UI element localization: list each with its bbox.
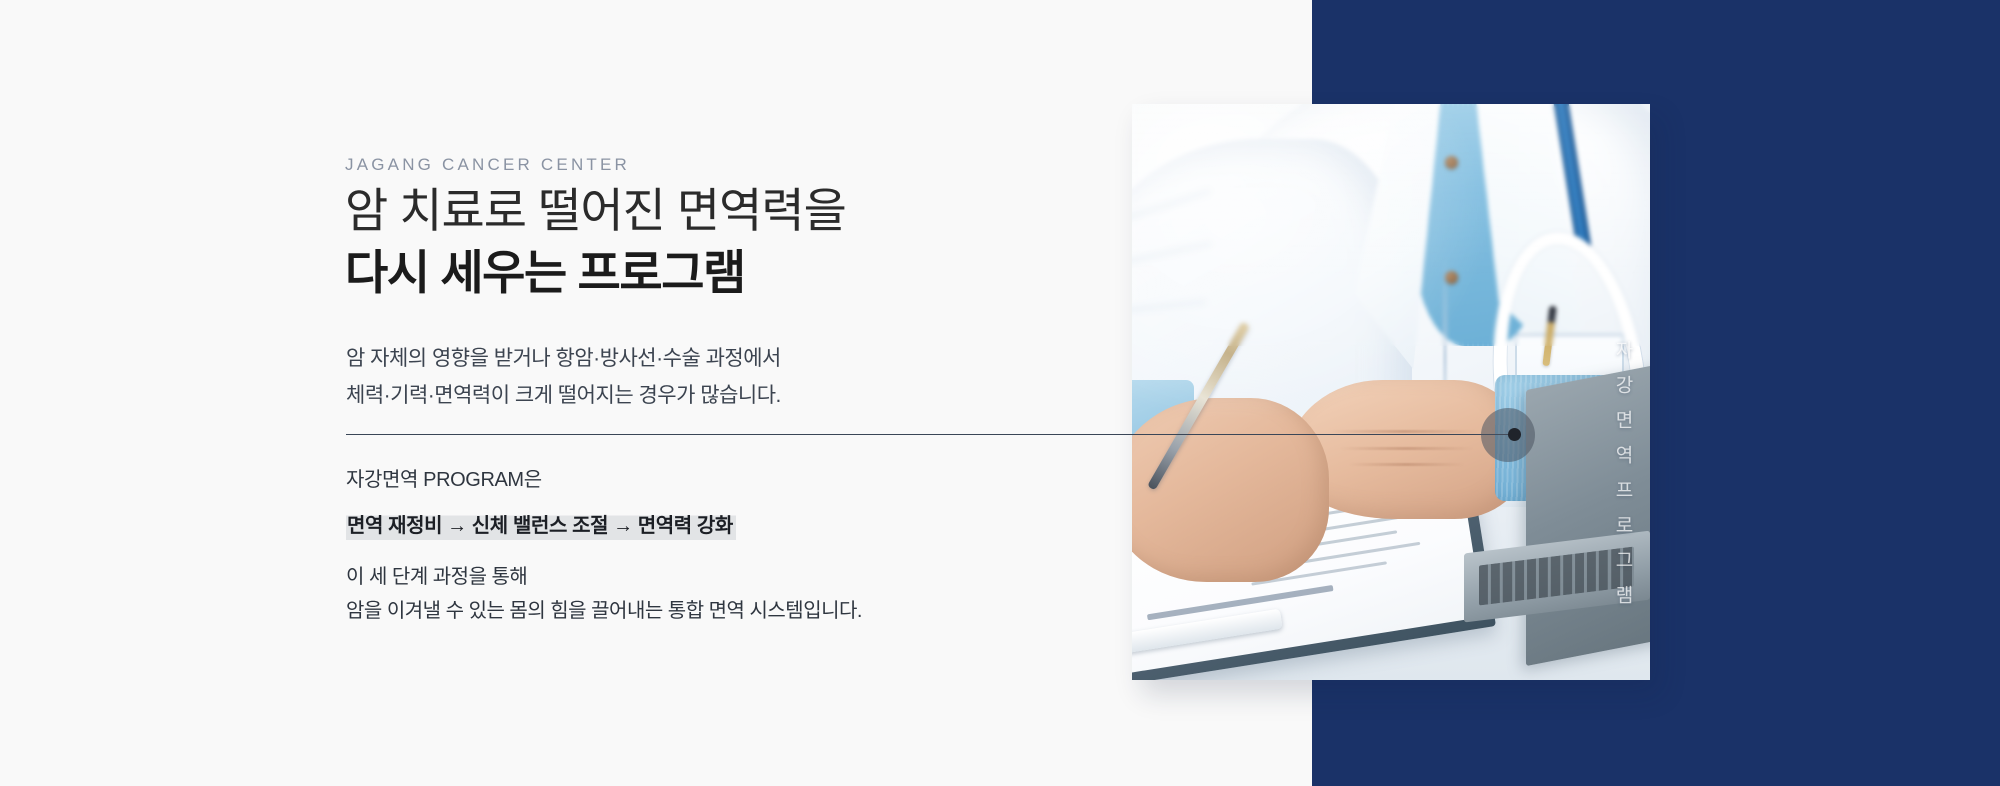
- outro-line-1: 이 세 단계 과정을 통해: [346, 560, 862, 594]
- program-step-1: 면역 재정비: [347, 515, 442, 537]
- hero-banner: 자강면역프로그램 JAGANG CANCER CENTER 암 치료로 떨어진 …: [0, 0, 2000, 786]
- section-divider: [346, 434, 1521, 435]
- program-steps: 면역 재정비→신체 밸런스 조절→면역력 강화: [346, 507, 736, 540]
- page-title: 암 치료로 떨어진 면역력을 다시 세우는 프로그램: [345, 180, 1045, 303]
- lead-line-2: 체력·기력·면역력이 크게 떨어지는 경우가 많습니다.: [346, 377, 781, 414]
- arrow-icon: →: [442, 515, 472, 537]
- hand-vein: [1340, 447, 1473, 450]
- arrow-icon: →: [608, 515, 638, 537]
- outro-line-2: 암을 이겨낼 수 있는 몸의 힘을 끌어내는 통합 면역 시스템입니다.: [346, 594, 862, 628]
- lead-line-1: 암 자체의 영향을 받거나 항암·방사선·수술 과정에서: [346, 340, 781, 377]
- eyebrow-label: JAGANG CANCER CENTER: [345, 155, 630, 175]
- hero-content: JAGANG CANCER CENTER 암 치료로 떨어진 면역력을 다시 세…: [345, 0, 1205, 786]
- headline-line-2: 다시 세우는 프로그램: [345, 242, 1045, 303]
- headline-line-1: 암 치료로 떨어진 면역력을: [345, 180, 1045, 242]
- divider-endpoint-dot: [1508, 428, 1521, 441]
- lead-paragraph: 암 자체의 영향을 받거나 항암·방사선·수술 과정에서 체력·기력·면역력이 …: [346, 340, 781, 415]
- program-step-3: 면역력 강화: [638, 515, 733, 537]
- doctor-photo: 자강면역프로그램: [1132, 104, 1650, 680]
- outro-paragraph: 이 세 단계 과정을 통해 암을 이겨낼 수 있는 몸의 힘을 끌어내는 통합 …: [346, 560, 862, 629]
- program-step-2: 신체 밸런스 조절: [472, 515, 608, 537]
- doctor-photo-card: 자강면역프로그램: [1132, 104, 1650, 680]
- hand-vein: [1349, 463, 1463, 466]
- program-intro-text: 자강면역 PROGRAM은: [346, 463, 542, 492]
- photo-vertical-caption: 자강면역프로그램: [1609, 340, 1636, 620]
- hand-vein: [1330, 430, 1478, 433]
